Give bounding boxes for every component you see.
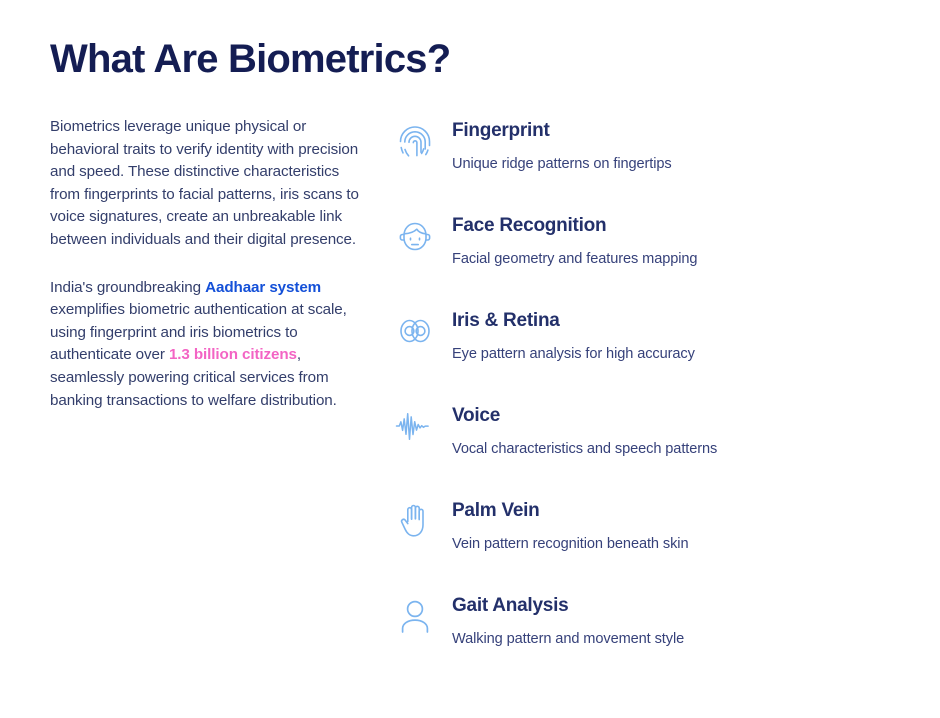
face-recognition-icon — [394, 215, 436, 257]
feature-description: Vocal characteristics and speech pattern… — [452, 438, 894, 460]
feature-title: Face Recognition — [452, 213, 894, 239]
feature-title: Gait Analysis — [452, 593, 894, 619]
feature-description: Walking pattern and movement style — [452, 628, 894, 650]
feature-description: Unique ridge patterns on fingertips — [452, 153, 894, 175]
feature-title: Voice — [452, 403, 894, 429]
iris-retina-icon — [394, 310, 436, 352]
feature-gait-analysis: Gait Analysis Walking pattern and moveme… — [394, 593, 894, 657]
intro-paragraph-2: India's groundbreaking Aadhaar system ex… — [50, 277, 370, 413]
palm-hand-icon — [394, 500, 436, 542]
feature-description: Vein pattern recognition beneath skin — [452, 533, 894, 555]
biometrics-infographic: What Are Biometrics? Biometrics leverage… — [0, 0, 940, 718]
feature-iris-retina: Iris & Retina Eye pattern analysis for h… — [394, 308, 894, 372]
person-gait-icon — [394, 595, 436, 637]
feature-title: Palm Vein — [452, 498, 894, 524]
citizens-count-highlight: 1.3 billion citizens — [169, 346, 297, 363]
aadhaar-system-highlight: Aadhaar system — [205, 279, 321, 296]
page-title: What Are Biometrics? — [50, 34, 450, 84]
feature-palm-vein: Palm Vein Vein pattern recognition benea… — [394, 498, 894, 562]
feature-voice: Voice Vocal characteristics and speech p… — [394, 403, 894, 467]
feature-fingerprint: Fingerprint Unique ridge patterns on fin… — [394, 118, 894, 182]
voice-waveform-icon — [394, 405, 436, 447]
fingerprint-icon — [394, 120, 436, 162]
intro-paragraph-1: Biometrics leverage unique physical or b… — [50, 116, 370, 252]
feature-description: Eye pattern analysis for high accuracy — [452, 343, 894, 365]
biometric-types-list: Fingerprint Unique ridge patterns on fin… — [394, 112, 894, 657]
feature-face-recognition: Face Recognition Facial geometry and fea… — [394, 213, 894, 277]
paragraph2-part1: India's groundbreaking — [50, 279, 205, 296]
intro-text-column: Biometrics leverage unique physical or b… — [50, 116, 370, 412]
feature-title: Iris & Retina — [452, 308, 894, 334]
feature-description: Facial geometry and features mapping — [452, 248, 894, 270]
feature-title: Fingerprint — [452, 118, 894, 144]
